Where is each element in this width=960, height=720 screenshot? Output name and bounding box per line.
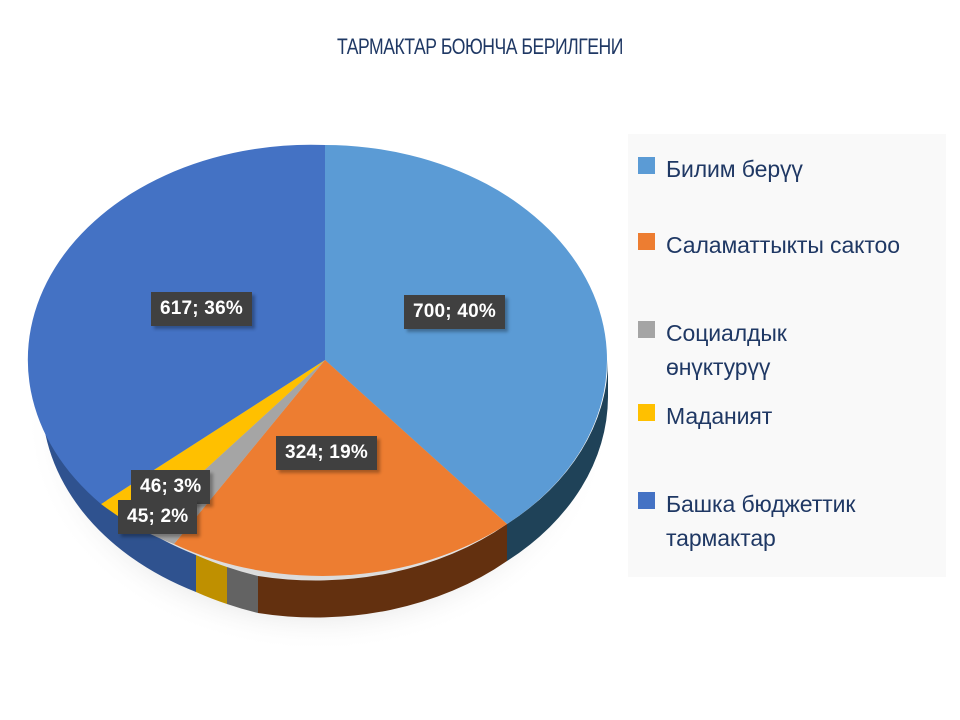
page-title: ТАРМАКТАР БОЮНЧА БЕРИЛГЕНИ: [96, 34, 864, 60]
legend-swatch-icon-other: [638, 492, 655, 509]
legend-swatch-icon-culture: [638, 404, 655, 421]
data-label-other: 617; 36%: [151, 292, 252, 326]
legend-swatch-icon-education: [638, 157, 655, 174]
data-label-education: 700; 40%: [404, 295, 505, 329]
legend-swatch-icon-social: [638, 321, 655, 338]
legend: Билим берүү Саламаттыкты сактоо Социалды…: [628, 134, 946, 577]
legend-label-other: Башка бюджеттик тармактар: [666, 487, 906, 555]
data-label-social: 45; 2%: [118, 500, 197, 534]
chart-slide: ТАРМАКТАР БОЮНЧА БЕРИЛГЕНИ: [0, 0, 960, 720]
legend-item-social[interactable]: Социалдык өнүктурүү: [638, 316, 818, 384]
pie-chart-svg: [0, 110, 630, 650]
legend-label-social: Социалдык өнүктурүү: [666, 316, 818, 384]
legend-item-culture[interactable]: Маданият: [638, 399, 938, 433]
legend-label-culture: Маданият: [666, 399, 772, 433]
data-label-health: 324; 19%: [276, 436, 377, 470]
legend-swatch-icon-health: [638, 233, 655, 250]
legend-item-other[interactable]: Башка бюджеттик тармактар: [638, 487, 906, 555]
data-label-culture: 46; 3%: [131, 470, 210, 504]
legend-label-education: Билим берүү: [666, 152, 803, 186]
legend-item-health[interactable]: Саламаттыкты сактоо: [638, 228, 938, 262]
legend-label-health: Саламаттыкты сактоо: [666, 228, 900, 262]
plot-area: 700; 40% 324; 19% 617; 36% 46; 3% 45; 2%: [0, 110, 630, 650]
legend-item-education[interactable]: Билим берүү: [638, 152, 938, 186]
